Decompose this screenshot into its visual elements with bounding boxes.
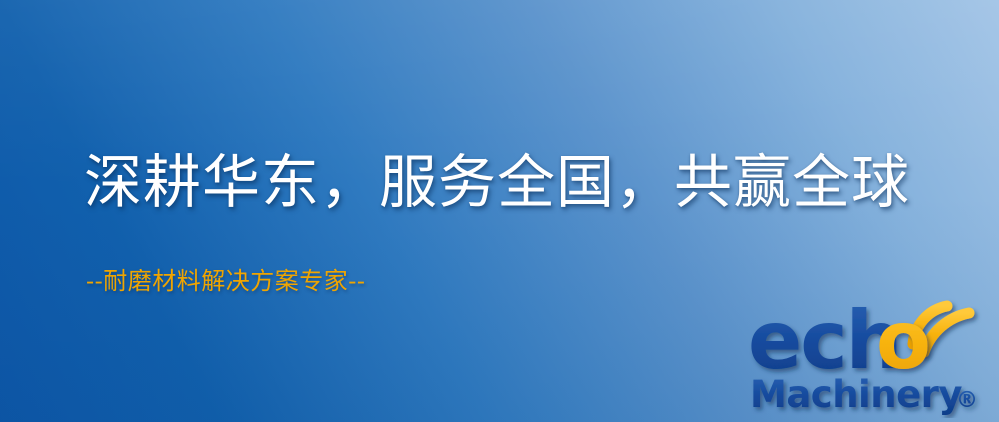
logo-registered-mark: ®: [956, 388, 978, 413]
banner-headline: 深耕华东，服务全国，共赢全球: [84, 152, 910, 213]
promo-banner: 深耕华东，服务全国，共赢全球 --耐磨材料解决方案专家--: [0, 0, 999, 422]
echo-machinery-logo: ech o Machinery ®: [748, 294, 994, 418]
banner-subtitle: --耐磨材料解决方案专家--: [86, 268, 365, 294]
logo-tagline: Machinery: [750, 373, 962, 416]
